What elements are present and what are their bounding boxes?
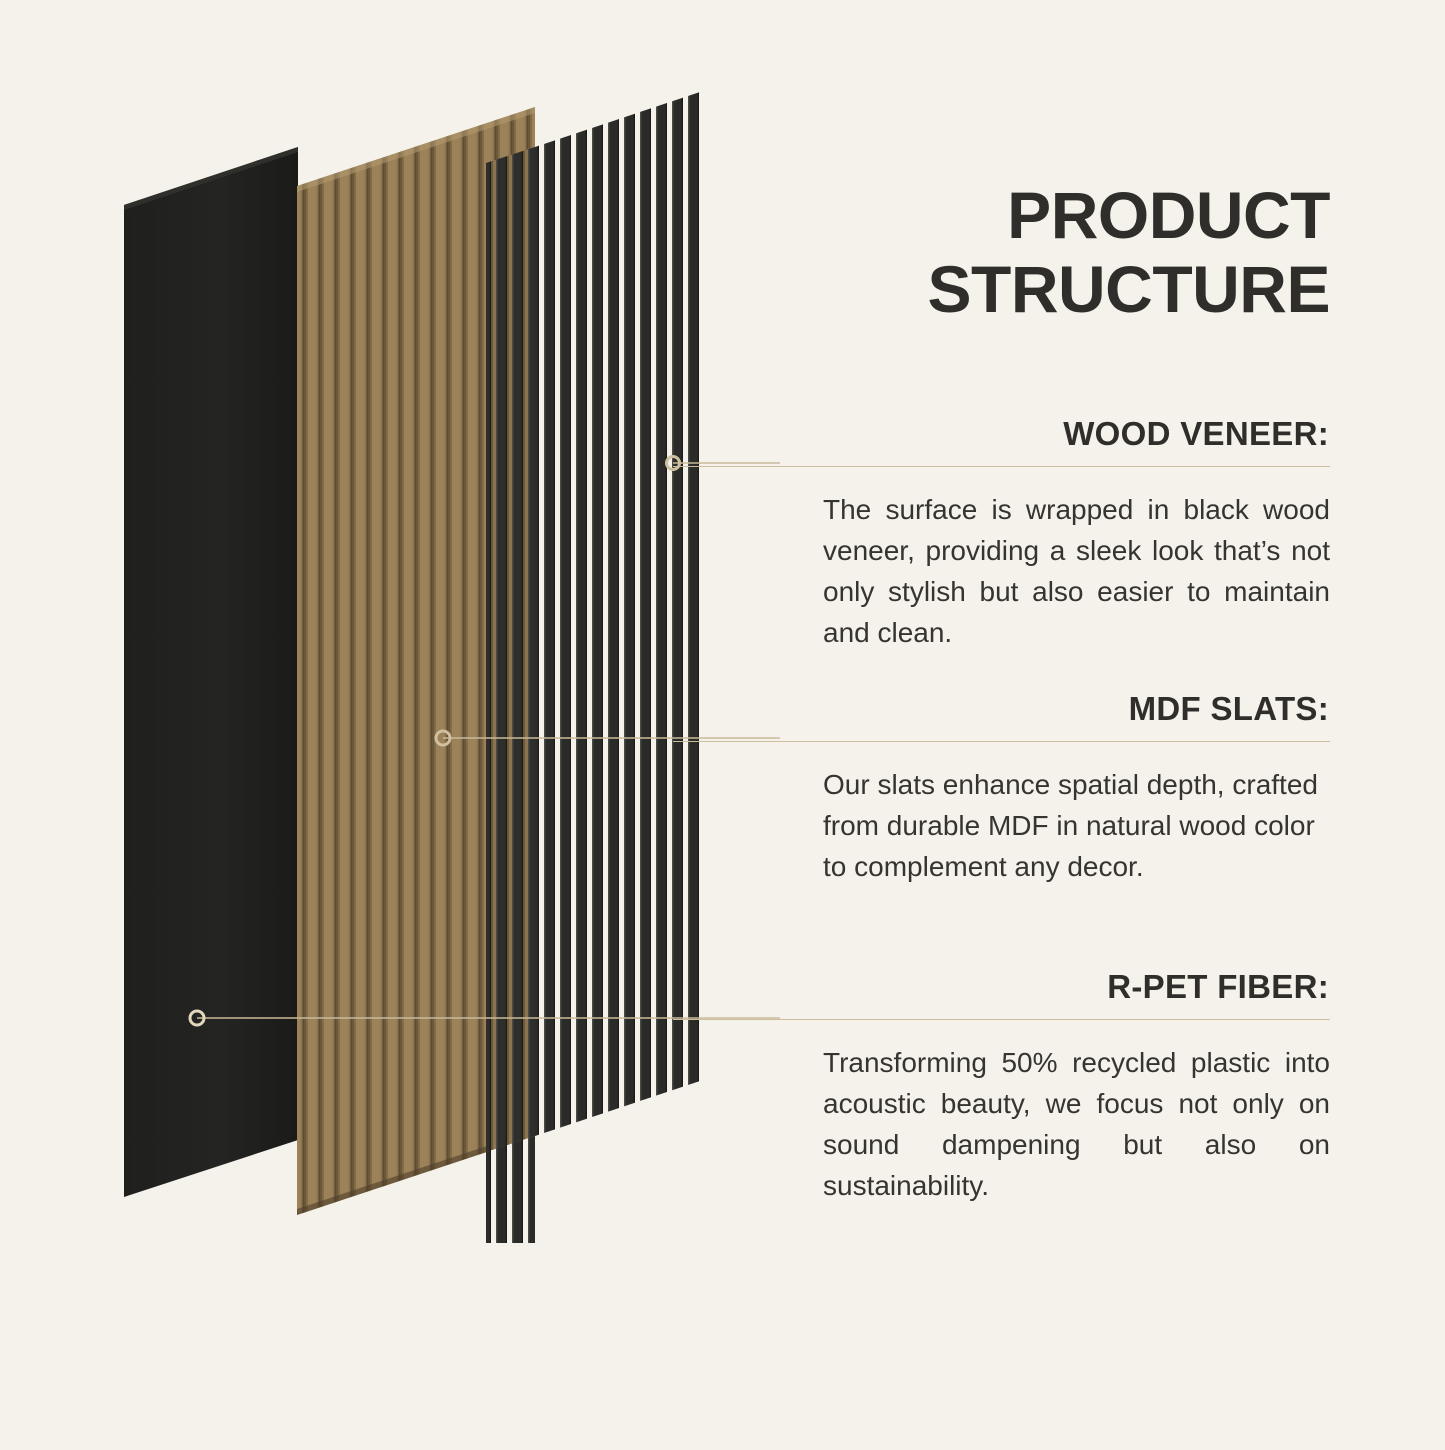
section-wood-veneer-divider xyxy=(673,466,1330,467)
wood-veneer-panel xyxy=(486,92,700,1243)
section-wood-veneer-heading: WOOD VENEER: xyxy=(673,415,1330,466)
product-structure-diagram xyxy=(0,0,780,1445)
section-mdf-slats-body: Our slats enhance spatial depth, crafted… xyxy=(823,764,1330,887)
section-wood-veneer: WOOD VENEER: The surface is wrapped in b… xyxy=(673,415,1330,653)
section-r-pet-fiber-heading: R-PET FIBER: xyxy=(673,968,1330,1019)
section-r-pet-fiber-divider xyxy=(673,1019,1330,1020)
page-title: PRODUCT STRUCTURE xyxy=(673,178,1330,326)
page-title-line-2: STRUCTURE xyxy=(673,252,1330,326)
section-r-pet-fiber-body: Transforming 50% recycled plastic into a… xyxy=(823,1042,1330,1206)
section-r-pet-fiber: R-PET FIBER: Transforming 50% recycled p… xyxy=(673,968,1330,1206)
infographic-canvas: PRODUCT STRUCTURE WOOD VENEER: The surfa… xyxy=(0,0,1445,1445)
section-wood-veneer-body: The surface is wrapped in black wood ven… xyxy=(823,489,1330,653)
section-mdf-slats: MDF SLATS: Our slats enhance spatial dep… xyxy=(673,690,1330,887)
text-column: PRODUCT STRUCTURE WOOD VENEER: The surfa… xyxy=(673,0,1445,1445)
section-mdf-slats-divider xyxy=(673,741,1330,742)
r-pet-fiber-panel xyxy=(124,147,298,1197)
section-mdf-slats-heading: MDF SLATS: xyxy=(673,690,1330,741)
diagram-svg xyxy=(0,0,780,1445)
page-title-line-1: PRODUCT xyxy=(673,178,1330,252)
